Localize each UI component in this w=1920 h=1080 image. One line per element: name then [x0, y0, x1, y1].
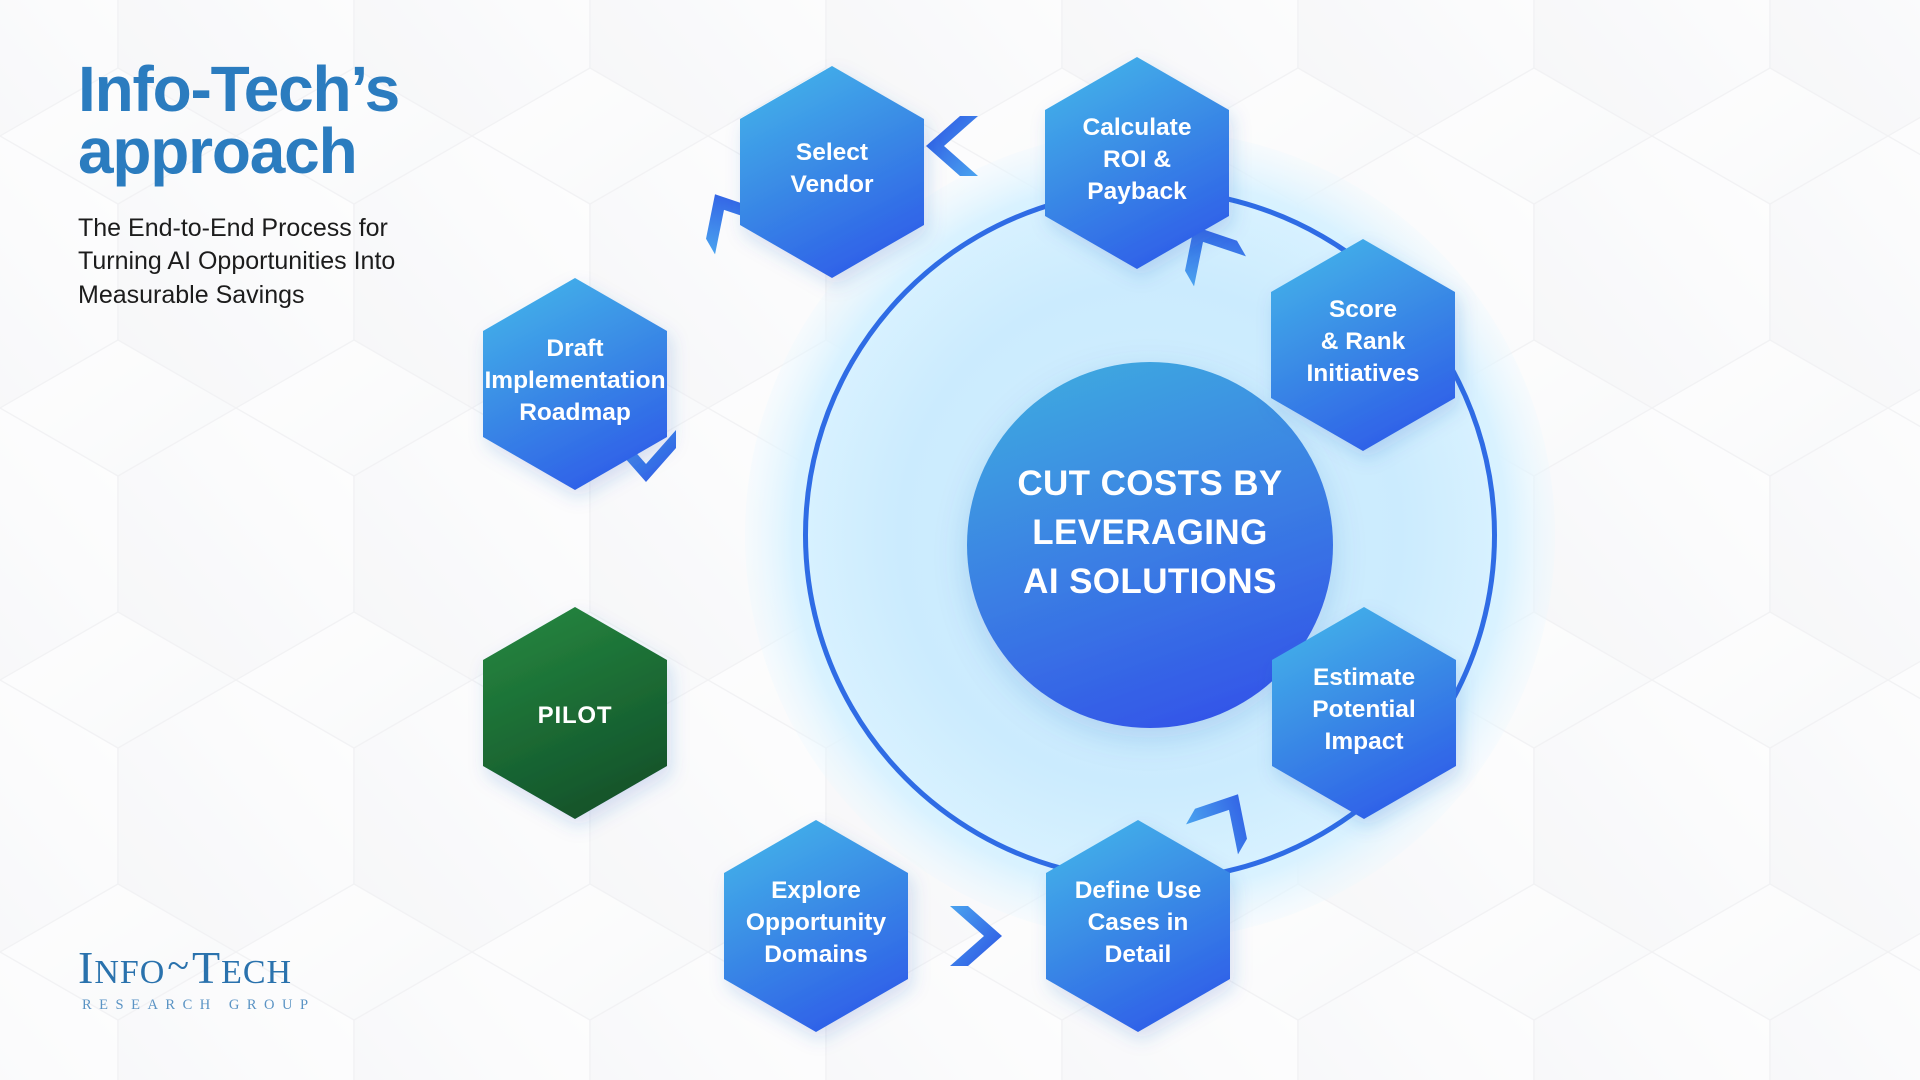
- center-line-3: AI SOLUTIONS: [1023, 562, 1277, 601]
- hex-label-line: Initiatives: [1306, 360, 1419, 387]
- hex-label-line: Explore: [771, 877, 861, 904]
- hex-label-line: Opportunity: [746, 909, 887, 936]
- hex-label-line: Potential: [1312, 696, 1415, 723]
- hex-label-line: ROI &: [1103, 146, 1171, 173]
- center-line-1: CUT COSTS BY: [1017, 464, 1282, 503]
- hex-label-line: Vendor: [790, 171, 874, 198]
- logo-ech: ECH: [221, 954, 292, 991]
- hex-label-line: Estimate: [1313, 664, 1415, 691]
- hex-label-line: & Rank: [1321, 328, 1406, 355]
- hex-label-line: Draft: [546, 335, 603, 362]
- hex-label-line: Detail: [1105, 941, 1172, 968]
- hex-label-line: Roadmap: [519, 399, 631, 426]
- hex-label-line: Domains: [764, 941, 867, 968]
- hex-label-line: Calculate: [1083, 114, 1192, 141]
- hex-label-line: Payback: [1087, 178, 1187, 205]
- logo-i: I: [78, 942, 94, 993]
- hex-label-line: Implementation: [484, 367, 665, 394]
- center-line-2: LEVERAGING: [1032, 513, 1267, 552]
- hex-label-line: Score: [1329, 296, 1397, 323]
- hex-label-line: Select: [796, 139, 868, 166]
- logo-tagline: RESEARCH GROUP: [78, 997, 388, 1014]
- info-tech-logo: INFO~TECH RESEARCH GROUP: [78, 945, 388, 1014]
- arrow-bottom-right: [950, 906, 1002, 966]
- hex-node-explore-opportunity-domains[interactable]: Explore Opportunity Domains: [724, 820, 908, 1032]
- arrow-top-left: [926, 116, 978, 176]
- hex-label-line: Cases in: [1088, 909, 1189, 936]
- process-cycle-diagram: CUT COSTS BY LEVERAGING AI SOLUTIONS Sel…: [640, 0, 1920, 1080]
- page-subtitle: The End-to-End Process for Turning AI Op…: [78, 212, 548, 312]
- intro-column: Info-Tech’s approach The End-to-End Proc…: [78, 58, 548, 312]
- hex-label-line: Impact: [1325, 728, 1404, 755]
- logo-t: T: [192, 942, 221, 993]
- hex-label-line: Define Use: [1075, 877, 1202, 904]
- logo-wordmark: INFO~TECH: [78, 945, 388, 991]
- logo-tilde-icon: ~: [165, 943, 192, 988]
- hex-label-line: PILOT: [538, 702, 613, 729]
- logo-nfo: NFO: [94, 954, 165, 991]
- page-title: Info-Tech’s approach: [78, 58, 548, 182]
